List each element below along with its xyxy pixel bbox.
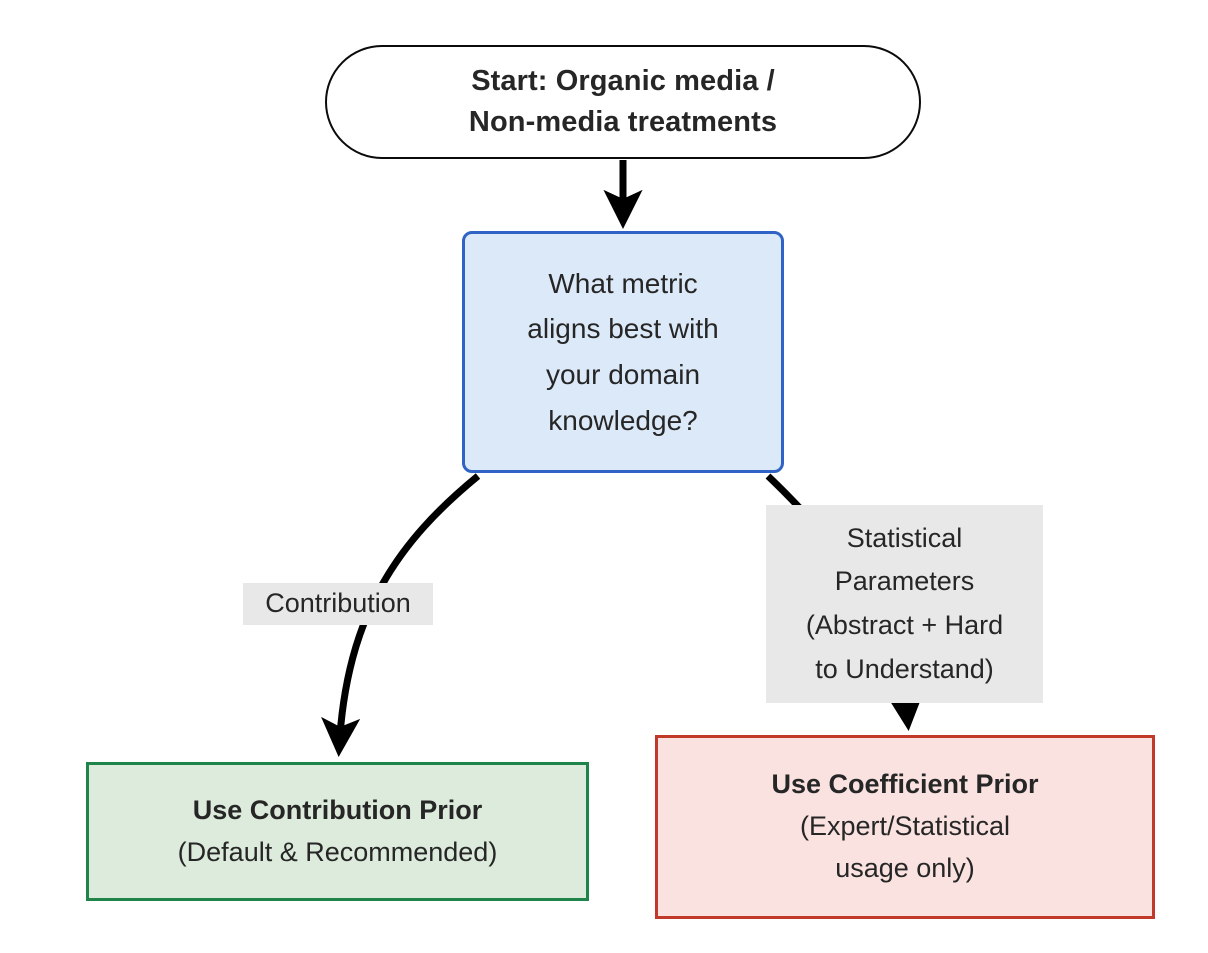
- start-node[interactable]: Start: Organic media / Non-media treatme…: [325, 45, 921, 159]
- outcome-coefficient-line-3: usage only): [835, 848, 975, 890]
- outcome-contribution-node[interactable]: Use Contribution Prior (Default & Recomm…: [86, 762, 589, 901]
- outcome-coefficient-node[interactable]: Use Coefficient Prior (Expert/Statistica…: [655, 735, 1155, 919]
- flowchart-canvas: Start: Organic media / Non-media treatme…: [0, 0, 1208, 953]
- outcome-coefficient-line-2: (Expert/Statistical: [800, 806, 1010, 848]
- decision-node-line-1: What metric: [548, 261, 697, 307]
- edge-label-statistical-line-3: (Abstract + Hard: [806, 604, 1003, 648]
- edge-label-statistical-line-2: Parameters: [835, 560, 975, 604]
- outcome-contribution-line-2: (Default & Recommended): [178, 832, 498, 874]
- outcome-coefficient-line-1: Use Coefficient Prior: [771, 764, 1038, 806]
- decision-node-line-3: your domain: [546, 352, 700, 398]
- start-node-line-1: Start: Organic media /: [471, 61, 775, 102]
- edge-label-statistical-parameters: Statistical Parameters (Abstract + Hard …: [766, 505, 1043, 703]
- edge-label-statistical-line-1: Statistical: [847, 517, 963, 561]
- decision-node-line-4: knowledge?: [548, 398, 697, 444]
- decision-node[interactable]: What metric aligns best with your domain…: [462, 231, 784, 473]
- edge-label-statistical-line-4: to Understand): [815, 648, 994, 692]
- decision-node-line-2: aligns best with: [527, 306, 718, 352]
- start-node-line-2: Non-media treatments: [469, 102, 777, 143]
- edge-label-contribution-text: Contribution: [265, 582, 411, 626]
- edge-label-contribution: Contribution: [243, 583, 433, 625]
- outcome-contribution-line-1: Use Contribution Prior: [193, 790, 483, 832]
